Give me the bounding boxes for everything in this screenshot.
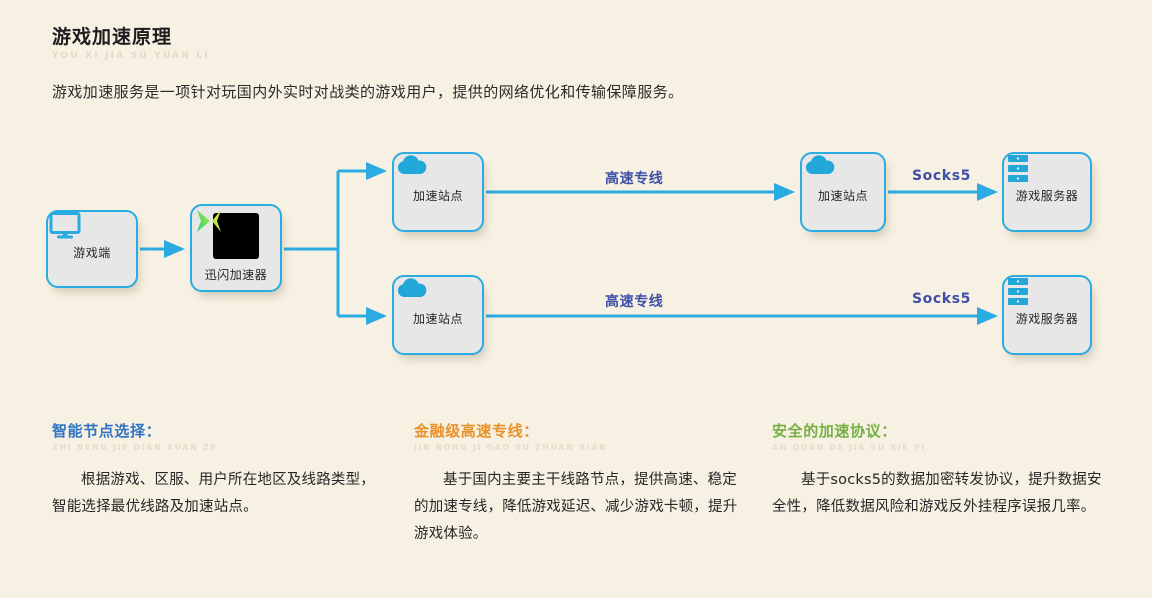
node-label: 游戏端 <box>73 244 111 261</box>
xunshan-logo-icon <box>213 213 259 259</box>
edge-label-socks5-top: Socks5 <box>912 168 971 184</box>
page-header: 游戏加速原理 YOU XI JIA SU YUAN LI <box>52 26 1112 61</box>
edge-label-dedicated-line-bottom: 高速专线 <box>605 291 663 311</box>
feature-column-secure-protocol: 安全的加速协议： AN QUAN DE JIA SU XIE YI 基于sock… <box>772 420 1127 547</box>
feature-heading: 安全的加速协议： <box>772 420 1109 441</box>
node-accel-site-top[interactable]: 加速站点 <box>392 152 484 232</box>
node-label: 加速站点 <box>413 187 463 204</box>
feature-heading-pinyin: ZHI NENG JIE DIAN XUAN ZE <box>52 443 389 453</box>
node-label: 游戏服务器 <box>1016 310 1079 327</box>
feature-heading-pinyin: AN QUAN DE JIA SU XIE YI <box>772 443 1109 453</box>
node-accel-site-mid[interactable]: 加速站点 <box>800 152 886 232</box>
diagram-connectors <box>0 130 1152 410</box>
feature-column-dedicated-line: 金融级高速专线： JIN RONG JI GAO SU ZHUAN XIAN 基… <box>414 420 769 547</box>
node-game-server-top[interactable]: 游戏服务器 <box>1002 152 1092 232</box>
feature-body: 基于国内主要主干线路节点，提供高速、稳定的加速专线，降低游戏延迟、减少游戏卡顿，… <box>414 467 751 547</box>
edge-label-socks5-bottom: Socks5 <box>912 291 971 307</box>
architecture-diagram: 游戏端 迅闪加速器 <box>0 130 1152 410</box>
feature-heading: 金融级高速专线： <box>414 420 751 441</box>
node-xunshan-accelerator[interactable]: 迅闪加速器 <box>190 204 282 292</box>
page-title: 游戏加速原理 <box>52 26 1112 50</box>
edge-label-dedicated-line-top: 高速专线 <box>605 168 663 188</box>
feature-heading: 智能节点选择： <box>52 420 389 441</box>
feature-body: 根据游戏、区服、用户所在地区及线路类型，智能选择最优线路及加速站点。 <box>52 467 389 521</box>
node-label: 加速站点 <box>818 187 868 204</box>
feature-column-smart-node: 智能节点选择： ZHI NENG JIE DIAN XUAN ZE 根据游戏、区… <box>52 420 407 547</box>
feature-columns: 智能节点选择： ZHI NENG JIE DIAN XUAN ZE 根据游戏、区… <box>0 420 1152 547</box>
node-accel-site-bottom[interactable]: 加速站点 <box>392 275 484 355</box>
feature-body: 基于socks5的数据加密转发协议，提升数据安全性，降低数据风险和游戏反外挂程序… <box>772 467 1109 521</box>
node-label: 迅闪加速器 <box>205 266 268 283</box>
node-label: 游戏服务器 <box>1016 187 1079 204</box>
page-intro-text: 游戏加速服务是一项针对玩国内外实时对战类的游戏用户，提供的网络优化和传输保障服务… <box>52 80 683 104</box>
node-game-server-bottom[interactable]: 游戏服务器 <box>1002 275 1092 355</box>
page-title-pinyin: YOU XI JIA SU YUAN LI <box>52 51 1112 61</box>
node-label: 加速站点 <box>413 310 463 327</box>
feature-heading-pinyin: JIN RONG JI GAO SU ZHUAN XIAN <box>414 443 751 453</box>
node-game-client[interactable]: 游戏端 <box>46 210 138 288</box>
